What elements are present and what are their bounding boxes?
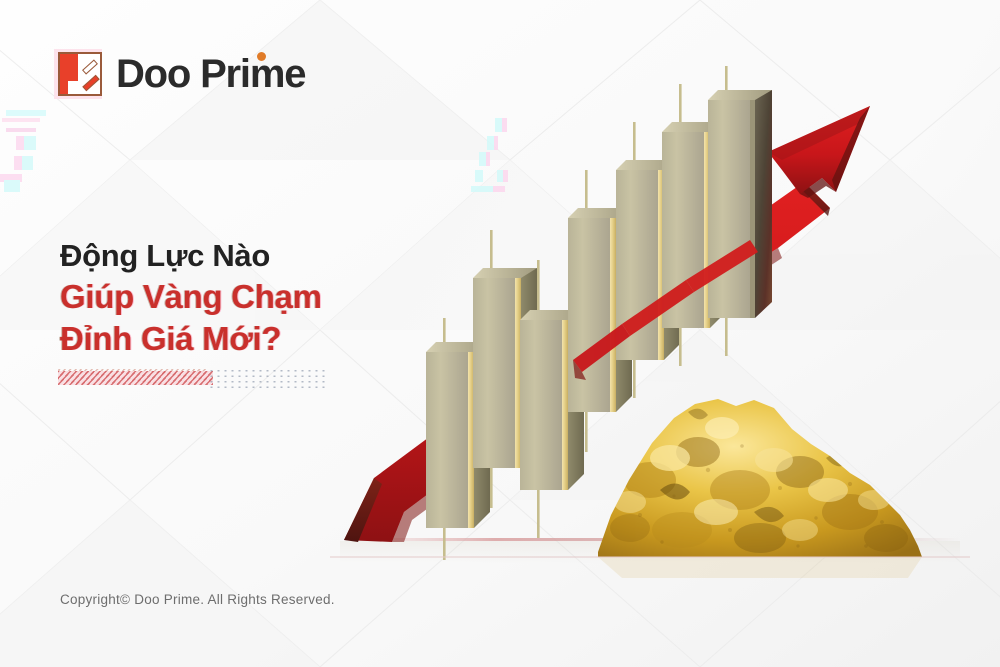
candle-7 bbox=[708, 66, 772, 356]
halftone-dot-decoration bbox=[208, 368, 328, 388]
headline-line-1: Động Lực Nào bbox=[60, 236, 322, 276]
brand-logo-text: Doo Prime bbox=[116, 54, 305, 94]
gold-nugget bbox=[598, 399, 922, 578]
brand-logo-label: Doo Prime bbox=[116, 52, 305, 96]
doo-prime-mark-icon bbox=[58, 52, 102, 96]
page-title: Động Lực Nào Giúp Vàng Chạm Đỉnh Giá Mới… bbox=[60, 236, 322, 360]
poster-canvas: Doo Prime Động Lực Nào Giúp Vàng Chạm Đỉ… bbox=[0, 0, 1000, 667]
brand-logo[interactable]: Doo Prime bbox=[58, 52, 305, 96]
headline-line-3: Đỉnh Giá Mới? bbox=[60, 318, 322, 360]
gold-candlestick-illustration bbox=[330, 60, 1000, 600]
diagonal-stripe-decoration bbox=[58, 371, 213, 385]
logo-accent-dot bbox=[257, 52, 266, 61]
headline-line-2: Giúp Vàng Chạm bbox=[60, 276, 322, 318]
glitch-block-decoration bbox=[0, 100, 90, 195]
headline-decoration bbox=[58, 368, 328, 390]
copyright-text: Copyright© Doo Prime. All Rights Reserve… bbox=[60, 592, 335, 607]
